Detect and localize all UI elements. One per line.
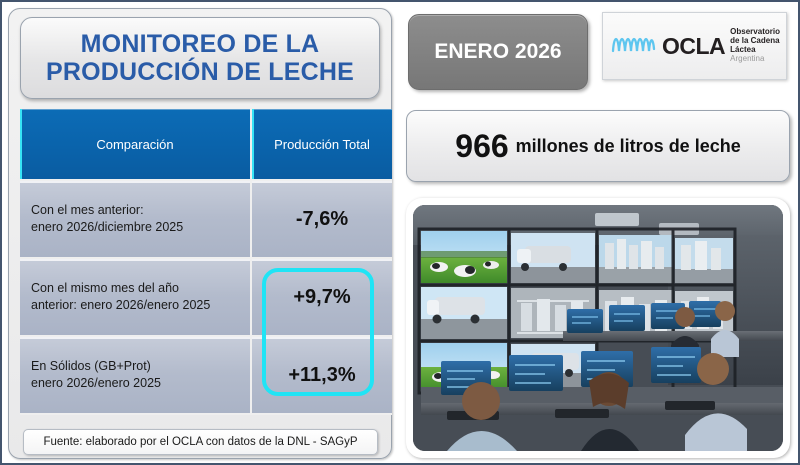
column-header-produccion-total: Producción Total: [252, 109, 392, 181]
value-text: +9,7%: [293, 284, 350, 311]
volume-number: 966: [455, 128, 508, 165]
left-panel: MONITOREO DE LA PRODUCCIÓN DE LECHE Comp…: [8, 8, 392, 459]
row-label-line-1: Con el mismo mes del año: [31, 280, 210, 297]
row-label-line-2: anterior: enero 2026/enero 2025: [31, 297, 210, 314]
logo-subtitle-line-2: de la Cadena Láctea: [730, 37, 786, 55]
row-label-line-1: Con el mes anterior:: [31, 202, 183, 219]
volume-callout: 966 millones de litros de leche: [406, 110, 790, 182]
row-label-mes-anterior: Con el mes anterior: enero 2026/diciembr…: [20, 181, 252, 259]
title-line-2: PRODUCCIÓN DE LECHE: [46, 58, 354, 86]
column-header-comparacion: Comparación: [20, 109, 252, 181]
table-header-row: Comparación Producción Total: [20, 109, 392, 181]
slide-root: MONITOREO DE LA PRODUCCIÓN DE LECHE Comp…: [0, 0, 800, 465]
logo-subtitle-line-3: Argentina: [730, 55, 786, 64]
title-line-1: MONITOREO DE LA: [46, 30, 354, 58]
title-box: MONITOREO DE LA PRODUCCIÓN DE LECHE: [20, 17, 380, 99]
table-row: Con el mismo mes del año anterior: enero…: [20, 259, 392, 337]
row-value-mismo-mes-ano-anterior: +9,7%: [252, 259, 392, 337]
logo-wordmark: OCLA: [662, 33, 725, 60]
table-row: En Sólidos (GB+Prot) enero 2026/enero 20…: [20, 337, 392, 415]
wave-icon: [611, 31, 657, 62]
period-badge-label: ENERO 2026: [434, 40, 561, 64]
row-label-en-solidos: En Sólidos (GB+Prot) enero 2026/enero 20…: [20, 337, 252, 415]
source-text: Fuente: elaborado por el OCLA con datos …: [43, 436, 357, 448]
row-label-line-2: enero 2026/diciembre 2025: [31, 219, 183, 236]
row-label-mismo-mes-ano-anterior: Con el mismo mes del año anterior: enero…: [20, 259, 252, 337]
row-label-line-1: En Sólidos (GB+Prot): [31, 358, 161, 375]
ocla-logo: OCLA Observatorio de la Cadena Láctea Ar…: [602, 12, 787, 80]
period-badge: ENERO 2026: [408, 14, 588, 90]
value-text: +11,3%: [288, 362, 355, 389]
page-title: MONITOREO DE LA PRODUCCIÓN DE LECHE: [46, 30, 354, 86]
volume-unit: millones de litros de leche: [516, 136, 741, 157]
photo-frame: [406, 198, 790, 458]
row-value-mes-anterior: -7,6%: [252, 181, 392, 259]
control-room-photo: [413, 205, 783, 451]
table-row: Con el mes anterior: enero 2026/diciembr…: [20, 181, 392, 259]
value-text: -7,6%: [296, 206, 348, 233]
logo-subtitle: Observatorio de la Cadena Láctea Argenti…: [730, 28, 786, 64]
comparison-table: Comparación Producción Total Con el mes …: [20, 109, 392, 419]
row-label-line-2: enero 2026/enero 2025: [31, 375, 161, 392]
source-note: Fuente: elaborado por el OCLA con datos …: [23, 429, 378, 455]
row-value-en-solidos: +11,3%: [252, 337, 392, 415]
